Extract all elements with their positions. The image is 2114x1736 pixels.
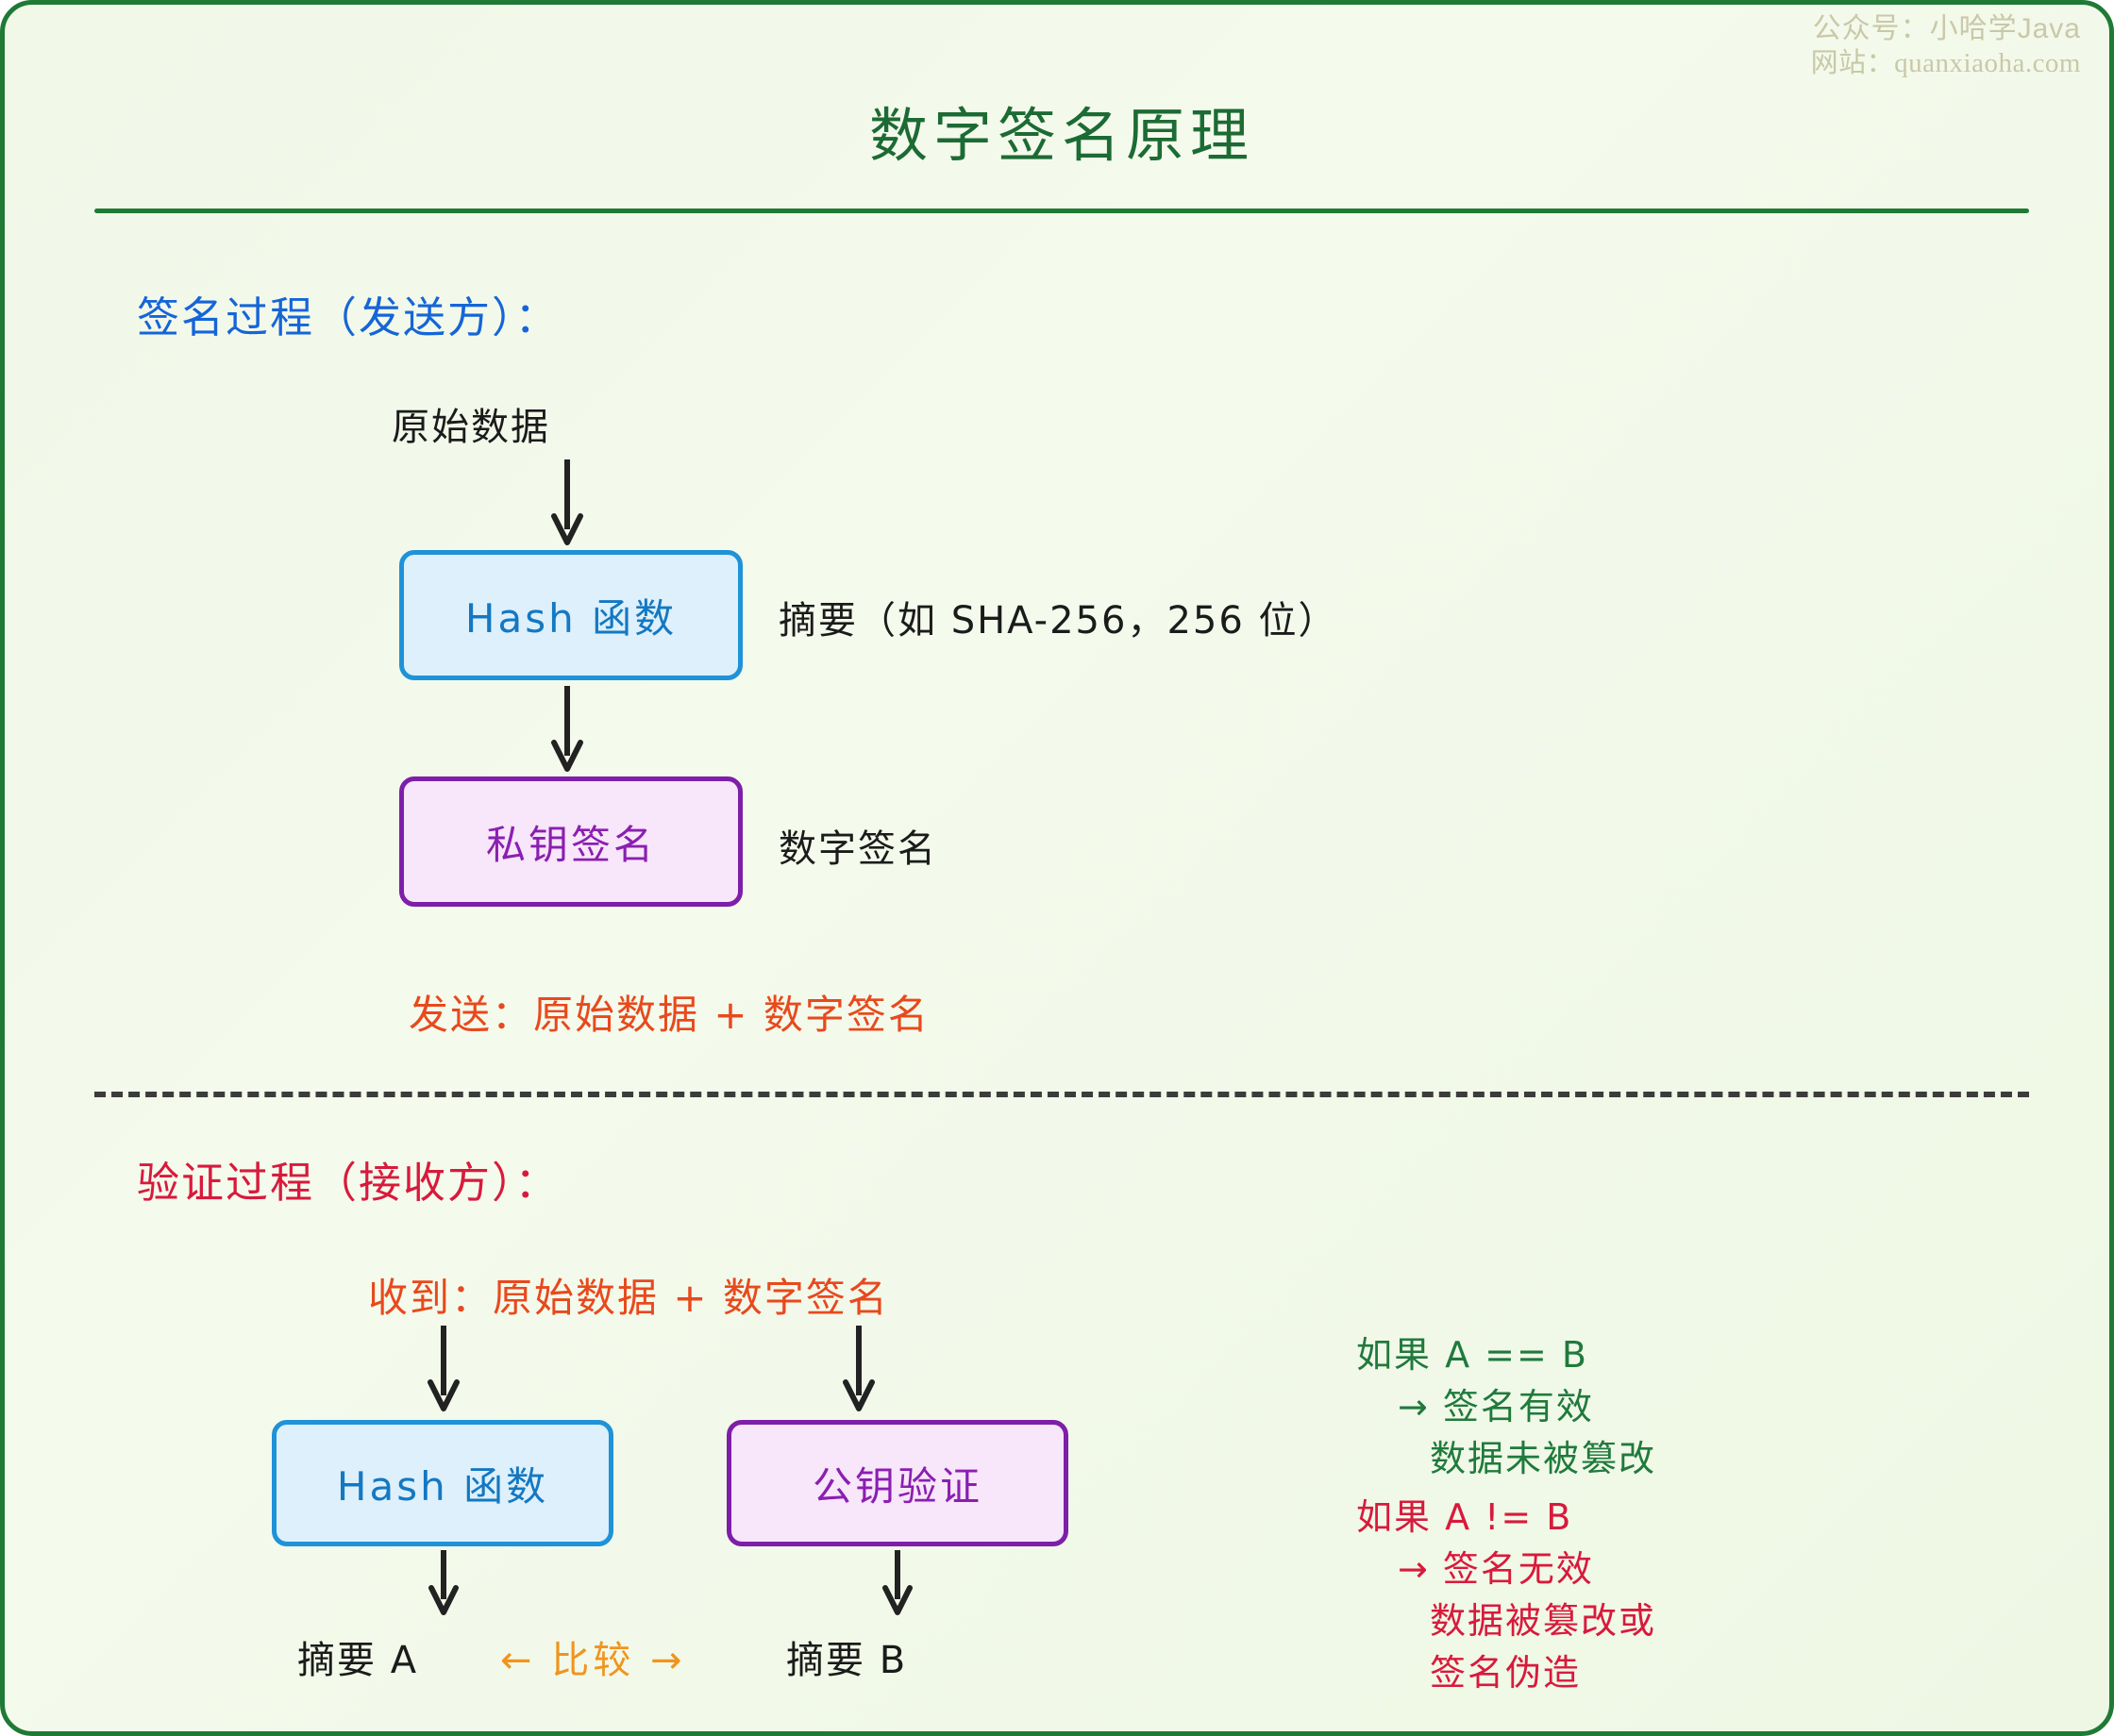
original-data-label: 原始数据 (392, 396, 550, 451)
section-divider (94, 1092, 2029, 1097)
send-payload-label: 发送：原始数据 + 数字签名 (409, 983, 930, 1041)
result-match-detail: 数据未被篡改 (1356, 1433, 1656, 1485)
arrow-hash-to-sign (550, 686, 584, 773)
result-mismatch-block: 如果 A != B → 签名无效 数据被篡改或 签名伪造 (1356, 1492, 1656, 1699)
compare-label: ← 比较 → (500, 1629, 685, 1684)
title-divider (94, 209, 2029, 213)
result-mismatch-detail-1: 数据被篡改或 (1356, 1595, 1656, 1647)
result-match-condition: 如果 A == B (1356, 1334, 1588, 1376)
arrow-received-to-hash (427, 1326, 461, 1412)
result-match-conclusion: → 签名有效 (1356, 1381, 1656, 1433)
result-mismatch-condition: 如果 A != B (1356, 1496, 1572, 1538)
arrow-data-to-hash (550, 459, 584, 546)
watermark-account: 公众号：小哈学Java (1811, 12, 2081, 47)
arrow-received-to-verify (842, 1326, 876, 1412)
digest-note-label: 摘要（如 SHA-256，256 位） (779, 590, 1338, 644)
arrow-hash-to-digest-a (427, 1550, 461, 1616)
diagram-canvas: 公众号：小哈学Java 网站：quanxiaoha.com 数字签名原理 签名过… (0, 0, 2114, 1736)
digital-signature-note-label: 数字签名 (779, 818, 937, 873)
result-match-block: 如果 A == B → 签名有效 数据未被篡改 (1356, 1329, 1656, 1485)
watermark: 公众号：小哈学Java 网站：quanxiaoha.com (1811, 12, 2081, 80)
result-mismatch-conclusion: → 签名无效 (1356, 1544, 1656, 1595)
result-mismatch-detail-2: 签名伪造 (1356, 1647, 1656, 1699)
watermark-site: 网站：quanxiaoha.com (1811, 47, 2081, 80)
arrow-verify-to-digest-b (881, 1550, 914, 1616)
digest-a-label: 摘要 A (297, 1629, 418, 1684)
verifying-section-heading: 验证过程（接收方）： (137, 1148, 560, 1210)
received-payload-label: 收到：原始数据 + 数字签名 (368, 1266, 889, 1324)
hash-function-box-signing[interactable]: Hash 函数 (399, 550, 743, 680)
public-key-verify-box[interactable]: 公钥验证 (727, 1420, 1068, 1546)
private-key-sign-box[interactable]: 私钥签名 (399, 776, 743, 907)
hash-function-box-verifying[interactable]: Hash 函数 (272, 1420, 613, 1546)
digest-b-label: 摘要 B (786, 1629, 907, 1684)
signing-section-heading: 签名过程（发送方）： (137, 283, 560, 344)
page-title: 数字签名原理 (5, 88, 2114, 173)
